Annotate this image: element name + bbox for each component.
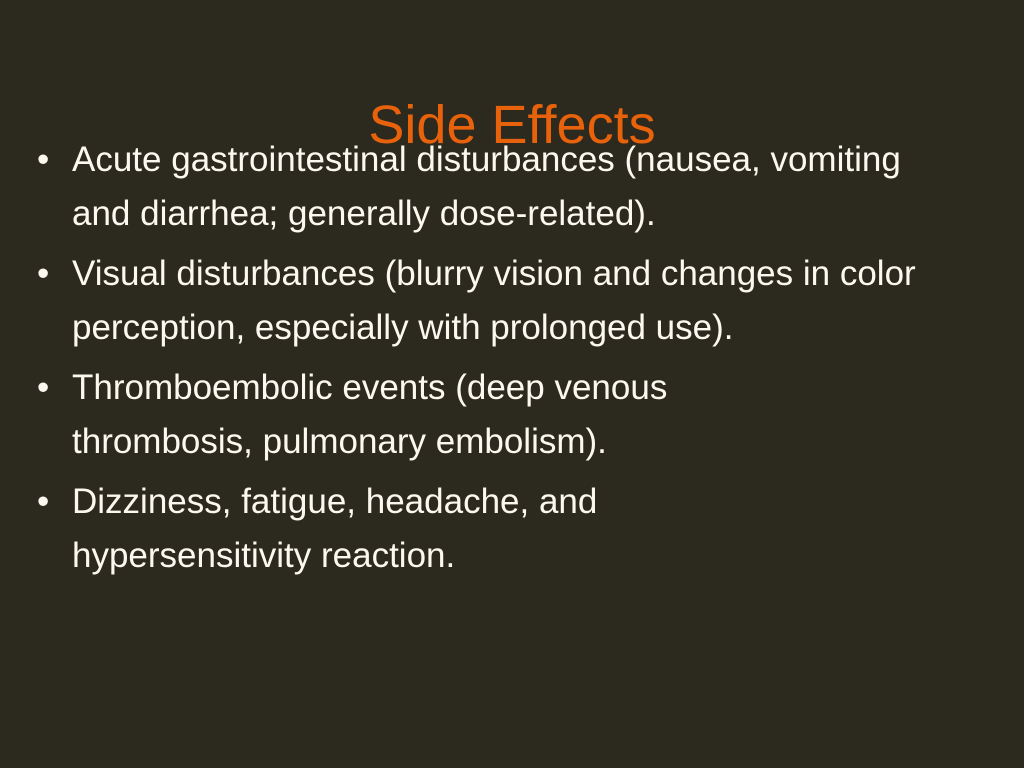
list-item-text: Dizziness, fatigue, headache, and hypers… bbox=[72, 475, 732, 583]
list-item: • Acute gastrointestinal disturbances (n… bbox=[26, 133, 998, 241]
bullet-list: • Acute gastrointestinal disturbances (n… bbox=[26, 133, 998, 589]
list-item: • Visual disturbances (blurry vision and… bbox=[26, 247, 998, 355]
bullet-point-icon: • bbox=[37, 133, 59, 187]
bullet-point-icon: • bbox=[37, 361, 59, 415]
list-item: • Dizziness, fatigue, headache, and hype… bbox=[26, 475, 998, 583]
list-item-text: Acute gastrointestinal disturbances (nau… bbox=[72, 133, 942, 241]
list-item: • Thromboembolic events (deep venous thr… bbox=[26, 361, 998, 469]
bullet-point-icon: • bbox=[37, 247, 59, 301]
presentation-slide: Side Effects • Acute gastrointestinal di… bbox=[0, 0, 1024, 768]
list-item-text: Visual disturbances (blurry vision and c… bbox=[72, 247, 998, 355]
bullet-point-icon: • bbox=[37, 475, 59, 529]
list-item-text: Thromboembolic events (deep venous throm… bbox=[72, 361, 842, 469]
